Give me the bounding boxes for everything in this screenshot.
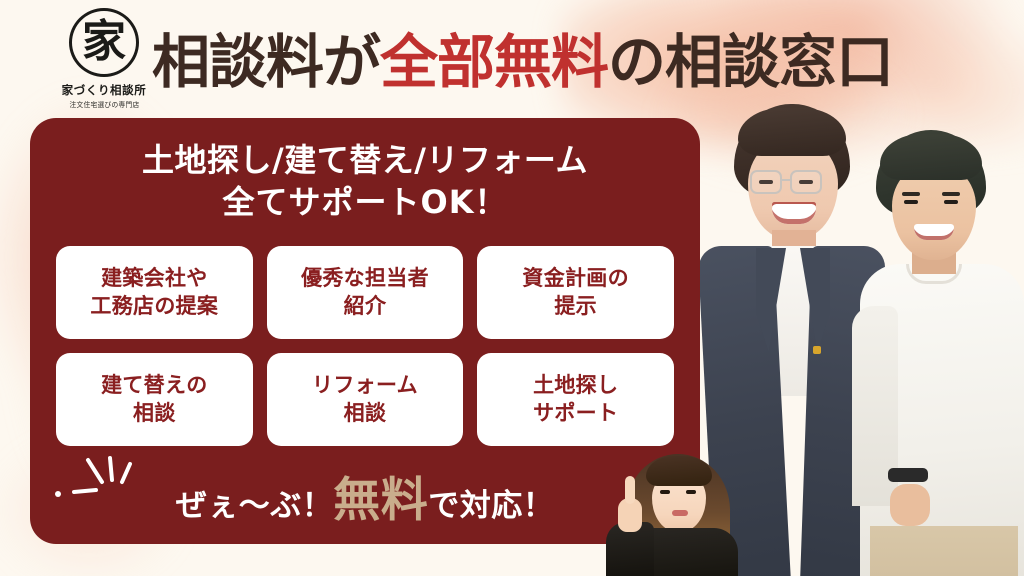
man-b-eye-left [904,200,918,204]
headline-highlight: 全部無料 [380,15,608,99]
service-chip[interactable]: 資金計画の 提示 [477,246,674,339]
service-chip[interactable]: 土地探し サポート [477,353,674,446]
panel-heading-line1: 土地探し/建て替え/リフォーム [30,140,700,182]
man-b-eye-right [944,200,958,204]
chip-line2: 工務店の提案 [90,294,218,318]
man-b-wristwatch [888,468,928,482]
panel-heading: 土地探し/建て替え/リフォーム 全てサポートOK！ [30,140,700,223]
photo-woman-pointing [596,440,746,576]
slogan-gold: 無料 [333,473,428,528]
logo-company-name: 家づくり相談所 [62,82,147,98]
service-chip[interactable]: 建築会社や 工務店の提案 [56,246,253,339]
service-chip[interactable]: 建て替えの 相談 [56,353,253,446]
slogan-text: ぜぇ～ぶ！無料で対応！ [176,461,555,530]
woman-lips [672,510,688,516]
banner-root: 家 家づくり相談所 注文住宅選びの専門店 相談料が 全部無料 の相談窓口 土地探… [0,0,1024,576]
woman-fringe [646,456,712,486]
panel-heading-line2: 全てサポートOK！ [30,182,700,224]
headline-part2: の相談窓口 [608,15,893,99]
slogan-lead: ぜぇ～ぶ！ [176,488,334,524]
service-chip[interactable]: リフォーム 相談 [267,353,464,446]
woman-eye-right [686,490,696,494]
man-a-smile [772,204,816,224]
man-a-glasses-bridge [782,179,790,181]
chip-line2: サポート [533,401,618,425]
woman-eye-left [660,490,670,494]
logo-kanji-text: 家 [82,20,126,64]
service-chip-grid: 建築会社や 工務店の提案 優秀な担当者 紹介 資金計画の 提示 建て替えの 相談… [56,246,674,446]
chip-line2: 相談 [344,401,387,425]
brand-logo: 家 家づくり相談所 注文住宅選びの専門店 [44,8,164,110]
chip-line1: 建築会社や [101,266,208,290]
chip-line1: リフォーム [312,373,418,397]
man-b-smile [914,224,954,240]
chip-line1: 建て替えの [101,373,208,397]
man-a-glasses-right-lens [790,170,822,194]
man-b-fringe [880,134,982,180]
house-kanji-circle-icon: 家 [69,8,139,77]
man-b-hand [890,484,930,526]
chip-line1: 土地探し [533,373,618,397]
man-a-lapel-pin [813,346,821,354]
man-a-fringe [738,108,846,156]
chip-line1: 資金計画の [522,266,629,290]
chip-line2: 提示 [554,294,597,318]
man-b-brow-left [902,192,920,196]
chip-line2: 相談 [133,401,176,425]
headline-part1: 相談料が [152,15,380,99]
service-chip[interactable]: 優秀な担当者 紹介 [267,246,464,339]
man-a-glasses-left-lens [750,170,782,194]
logo-tagline: 注文住宅選びの専門店 [69,100,139,110]
photo-two-men [700,96,1024,576]
man-b-pants [870,526,1018,576]
chip-line2: 紹介 [344,294,387,318]
chip-line1: 優秀な担当者 [301,266,429,290]
woman-pointing-finger [625,476,635,504]
slogan-tail: で対応！ [428,488,554,524]
sparkle-burst-icon [40,452,160,514]
page-title: 相談料が 全部無料 の相談窓口 [152,14,893,100]
man-b-brow-right [942,192,960,196]
